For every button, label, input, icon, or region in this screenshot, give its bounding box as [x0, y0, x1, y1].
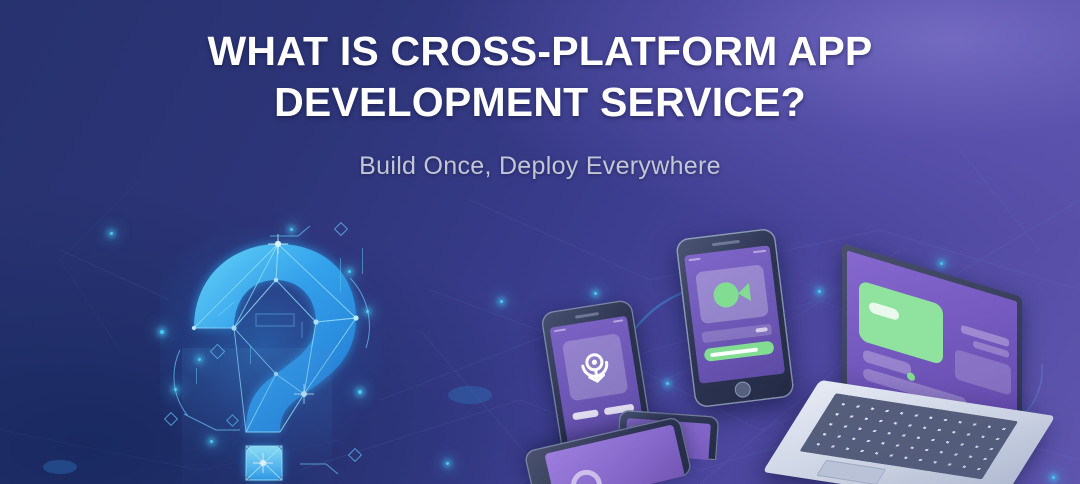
question-mark-hud-lines [150, 218, 400, 484]
page-title-line1: WHAT IS CROSS-PLATFORM APP [208, 28, 873, 74]
devices-illustration [500, 215, 1080, 484]
camera-flower-icon [576, 348, 615, 387]
particle-dot [446, 462, 449, 465]
page-subtitle: Build Once, Deploy Everywhere [0, 149, 1080, 183]
device-tablet [675, 228, 795, 409]
circle-icon [563, 461, 611, 484]
status-bar-left [688, 258, 700, 261]
status-bar-right [613, 319, 623, 323]
page-title: WHAT IS CROSS-PLATFORM APP DEVELOPMENT S… [0, 26, 1080, 128]
laptop-trackpad[interactable] [816, 460, 886, 484]
status-bar-right [753, 250, 766, 254]
device-laptop [780, 270, 1060, 484]
question-mark-illustration [150, 218, 400, 484]
page-title-line2: DEVELOPMENT SERVICE? [274, 79, 806, 125]
video-camera-icon [711, 279, 754, 310]
tablet-screen [684, 245, 785, 384]
screen-button-left [572, 409, 599, 420]
screen-row-bar [701, 324, 772, 343]
headings-block: WHAT IS CROSS-PLATFORM APP DEVELOPMENT S… [0, 26, 1080, 183]
particle-dot [110, 232, 113, 235]
hero-banner: WHAT IS CROSS-PLATFORM APP DEVELOPMENT S… [0, 0, 1080, 484]
status-bar-left [554, 328, 566, 332]
